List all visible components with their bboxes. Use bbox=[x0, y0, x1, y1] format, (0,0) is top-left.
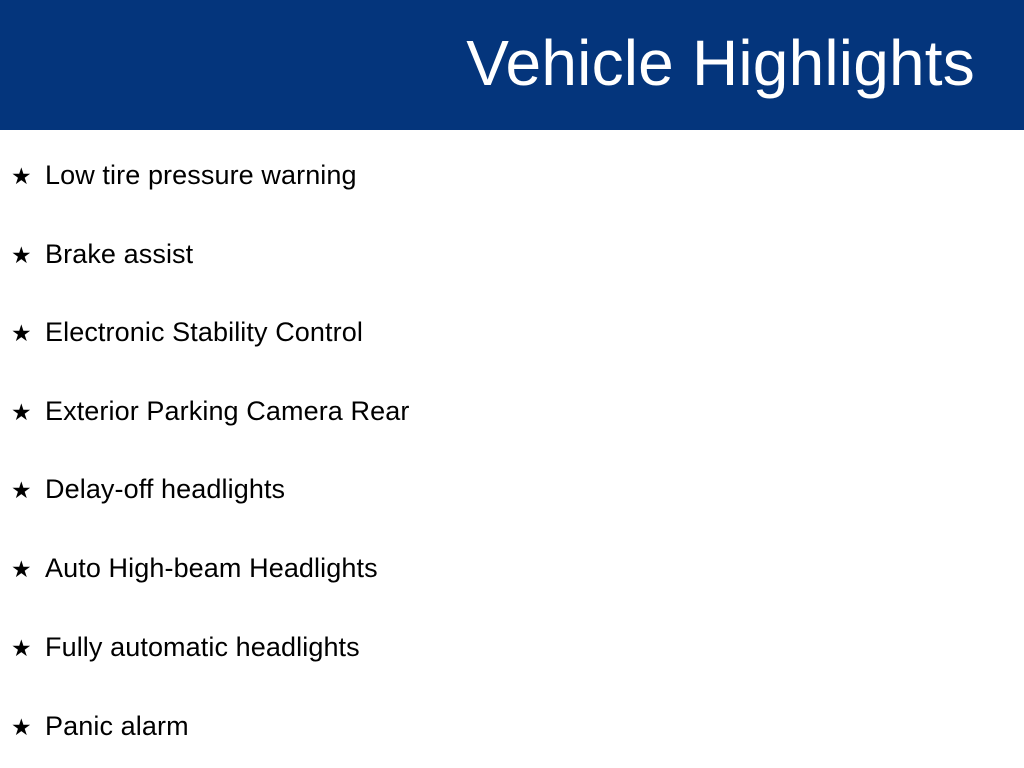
star-bullet-icon: ★ bbox=[0, 480, 33, 503]
vehicle-highlights-slide: Vehicle Highlights ★ Low tire pressure w… bbox=[0, 0, 1024, 768]
highlight-label: Fully automatic headlights bbox=[45, 634, 360, 661]
highlight-label: Low tire pressure warning bbox=[45, 162, 357, 189]
highlight-label: Panic alarm bbox=[45, 713, 189, 740]
highlight-label: Electronic Stability Control bbox=[45, 319, 363, 346]
star-bullet-icon: ★ bbox=[0, 717, 33, 740]
list-item: ★ Delay-off headlights bbox=[0, 476, 285, 512]
list-item: ★ Exterior Parking Camera Rear bbox=[0, 398, 409, 434]
highlight-label: Auto High-beam Headlights bbox=[45, 555, 378, 582]
list-item: ★ Electronic Stability Control bbox=[0, 319, 363, 355]
star-bullet-icon: ★ bbox=[0, 559, 33, 582]
list-item: ★ Auto High-beam Headlights bbox=[0, 555, 378, 591]
page-title: Vehicle Highlights bbox=[466, 31, 975, 99]
vehicle-highlights-list: ★ Low tire pressure warning ★ Brake assi… bbox=[0, 130, 1024, 768]
list-item: ★ Low tire pressure warning bbox=[0, 162, 357, 198]
star-bullet-icon: ★ bbox=[0, 245, 33, 268]
list-item: ★ Panic alarm bbox=[0, 713, 189, 749]
list-item: ★ Brake assist bbox=[0, 241, 193, 277]
highlight-label: Exterior Parking Camera Rear bbox=[45, 398, 409, 425]
list-item: ★ Fully automatic headlights bbox=[0, 634, 360, 670]
highlight-label: Delay-off headlights bbox=[45, 476, 285, 503]
star-bullet-icon: ★ bbox=[0, 402, 33, 425]
star-bullet-icon: ★ bbox=[0, 166, 33, 189]
star-bullet-icon: ★ bbox=[0, 323, 33, 346]
star-bullet-icon: ★ bbox=[0, 638, 33, 661]
highlight-label: Brake assist bbox=[45, 241, 193, 268]
header-banner: Vehicle Highlights bbox=[0, 0, 1024, 130]
